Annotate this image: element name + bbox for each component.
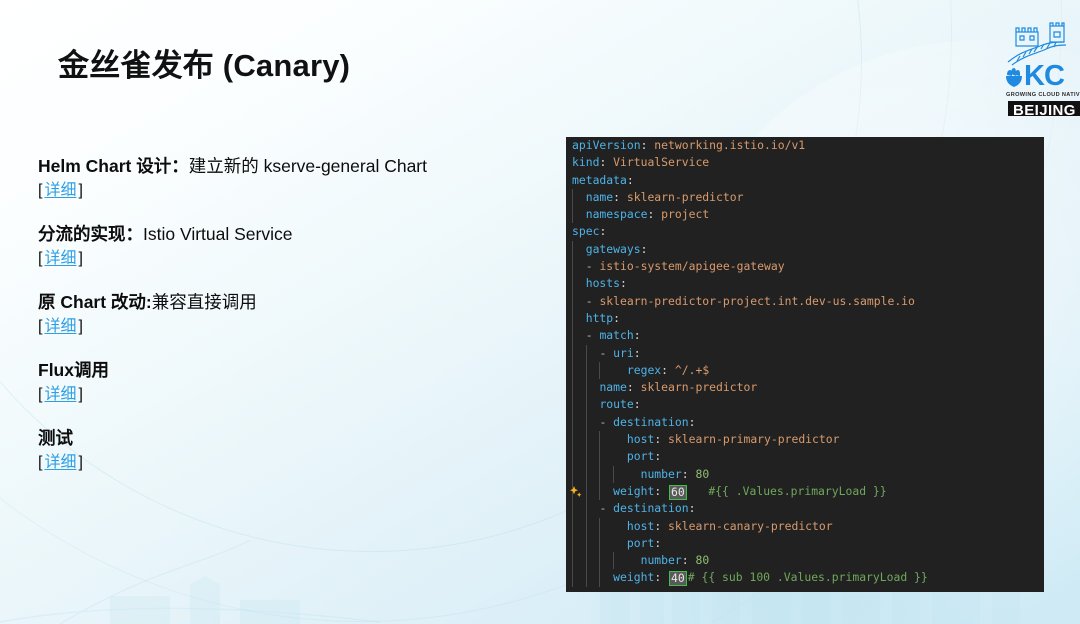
indent-guide (586, 362, 587, 379)
code-line-content: number: 80 (641, 467, 710, 481)
bullet-list: Helm Chart 设计：建立新的 kserve-general Chart … (38, 155, 538, 475)
code-value: istio-system/apigee-gateway (599, 259, 784, 273)
bullet-heading-bold: 测试 (38, 428, 73, 448)
code-number: 80 (695, 553, 709, 567)
code-value: sklearn-predictor (641, 380, 758, 394)
code-line[interactable]: port: (566, 448, 1044, 465)
code-dash: - (599, 501, 613, 515)
indent-guide (572, 500, 573, 517)
page-title: 金丝雀发布 (Canary) (58, 40, 350, 85)
code-value: networking.istio.io/v1 (654, 138, 805, 152)
indent-guide (572, 414, 573, 431)
logo-kc-mark: KC (1004, 62, 1064, 91)
indent-guide (599, 483, 600, 500)
code-separator: : (613, 311, 620, 325)
code-line[interactable]: weight: 60 #{{ .Values.primaryLoad }} (566, 483, 1044, 500)
code-line-content: http: (586, 311, 620, 325)
code-separator: : (682, 467, 696, 481)
code-key: host (627, 519, 654, 533)
indent-guide (586, 396, 587, 413)
logo-brand-text: KC (1024, 62, 1064, 91)
code-comment: # {{ sub 100 .Values.primaryLoad }} (688, 570, 928, 584)
bracket-close: ] (78, 182, 82, 199)
indent-guide (572, 310, 573, 327)
code-separator: : (599, 155, 613, 169)
code-line[interactable]: kind: VirtualService (566, 154, 1044, 171)
code-line[interactable]: namespace: project (566, 206, 1044, 223)
code-line[interactable]: - destination: (566, 414, 1044, 431)
code-separator: : (689, 501, 696, 515)
bullet-detail-row: [详细] (38, 179, 538, 203)
code-key: match (599, 328, 633, 342)
code-dash: - (586, 259, 600, 273)
indent-guide (586, 448, 587, 465)
code-line[interactable]: weight: 40# {{ sub 100 .Values.primaryLo… (566, 569, 1044, 586)
code-comment: #{{ .Values.primaryLoad }} (708, 484, 886, 498)
detail-link[interactable]: 详细 (42, 454, 78, 471)
bullet-item: 原 Chart 改动:兼容直接调用 [详细] (38, 291, 538, 339)
code-key: gateways (586, 242, 641, 256)
detail-link[interactable]: 详细 (42, 182, 78, 199)
code-line-content: weight: 40# {{ sub 100 .Values.primaryLo… (613, 570, 928, 584)
code-key: kind (572, 155, 599, 169)
code-dash: - (586, 328, 600, 342)
code-line-content: name: sklearn-predictor (586, 190, 744, 204)
code-line-content: - istio-system/apigee-gateway (586, 259, 785, 273)
bullet-heading-bold: 分流的实现： (38, 224, 143, 244)
code-separator: : (599, 224, 606, 238)
code-separator: : (641, 138, 655, 152)
code-line[interactable]: - istio-system/apigee-gateway (566, 258, 1044, 275)
indent-guide (572, 275, 573, 292)
indent-guide (572, 431, 573, 448)
code-editor-panel[interactable]: apiVersion: networking.istio.io/v1kind: … (566, 137, 1044, 592)
code-line-content: gateways: (586, 242, 648, 256)
code-line[interactable]: - destination: (566, 500, 1044, 517)
code-key: destination (613, 501, 688, 515)
code-line[interactable]: - uri: (566, 345, 1044, 362)
indent-guide (572, 241, 573, 258)
code-value: project (661, 207, 709, 221)
code-line-content: - destination: (599, 415, 695, 429)
code-key: weight (613, 570, 654, 584)
code-key: hosts (586, 276, 620, 290)
code-key: name (586, 190, 613, 204)
code-key: apiVersion (572, 138, 641, 152)
code-separator: : (647, 207, 661, 221)
code-key: regex (627, 363, 661, 377)
detail-link[interactable]: 详细 (42, 250, 78, 267)
indent-guide (586, 431, 587, 448)
code-separator: : (689, 415, 696, 429)
code-key: name (599, 380, 626, 394)
weight-value-highlight[interactable]: 40 (669, 571, 687, 586)
indent-guide (572, 362, 573, 379)
bullet-item: Helm Chart 设计：建立新的 kserve-general Chart … (38, 155, 538, 203)
bullet-heading-bold: 原 Chart 改动: (38, 292, 152, 312)
indent-guide (572, 396, 573, 413)
bullet-item: 测试 [详细] (38, 427, 538, 475)
bullet-heading: 原 Chart 改动:兼容直接调用 (38, 291, 538, 314)
indent-guide (586, 379, 587, 396)
indent-guide (586, 345, 587, 362)
code-line-content: - sklearn-predictor-project.int.dev-us.s… (586, 294, 915, 308)
bracket-close: ] (78, 386, 82, 403)
indent-guide (572, 327, 573, 344)
code-key: port (627, 536, 654, 550)
code-separator: : (634, 397, 641, 411)
bullet-heading-bold: Helm Chart 设计： (38, 156, 189, 176)
indent-guide (572, 206, 573, 223)
code-separator: : (682, 553, 696, 567)
bracket-close: ] (78, 454, 82, 471)
code-value: ^/.+$ (675, 363, 709, 377)
code-key: metadata (572, 173, 627, 187)
code-line-content: metadata: (572, 173, 634, 187)
code-line[interactable]: route: (566, 396, 1044, 413)
code-key: number (641, 467, 682, 481)
code-dash: - (599, 346, 613, 360)
logo-tagline: GROWING CLOUD NATIVE (1006, 92, 1080, 98)
code-value: VirtualService (613, 155, 709, 169)
bullet-detail-row: [详细] (38, 247, 538, 271)
slide-canvas: 金丝雀发布 (Canary) Helm Chart 设计：建立新的 kserve… (0, 0, 1080, 624)
code-line[interactable]: - sklearn-predictor-project.int.dev-us.s… (566, 293, 1044, 310)
code-separator: : (627, 173, 634, 187)
code-line[interactable]: http: (566, 310, 1044, 327)
code-line-content: number: 80 (641, 553, 710, 567)
code-line-content: name: sklearn-predictor (599, 380, 757, 394)
code-line-content: - destination: (599, 501, 695, 515)
indent-guide (586, 500, 587, 517)
code-line[interactable]: port: (566, 535, 1044, 552)
indent-guide (599, 518, 600, 535)
event-logo: KC GROWING CLOUD NATIVE BEIJING (1002, 22, 1080, 116)
indent-guide (613, 466, 614, 483)
code-line-content: spec: (572, 224, 606, 238)
code-separator: : (654, 484, 668, 498)
sparkle-icon[interactable] (569, 485, 583, 499)
bullet-heading: Helm Chart 设计：建立新的 kserve-general Chart (38, 155, 538, 178)
indent-guide (586, 552, 587, 569)
code-separator: : (627, 380, 641, 394)
code-spacer (688, 484, 709, 498)
indent-guide (586, 466, 587, 483)
code-line[interactable]: - match: (566, 327, 1044, 344)
indent-guide (572, 535, 573, 552)
bullet-heading-rest: 建立新的 kserve-general Chart (189, 156, 427, 176)
code-line-content: hosts: (586, 276, 627, 290)
code-line[interactable]: host: sklearn-canary-predictor (566, 518, 1044, 535)
indent-guide (599, 569, 600, 586)
code-line-content: apiVersion: networking.istio.io/v1 (572, 138, 805, 152)
code-separator: : (654, 449, 661, 463)
indent-guide (599, 535, 600, 552)
indent-guide (586, 483, 587, 500)
code-value: sklearn-predictor (627, 190, 744, 204)
code-key: number (641, 553, 682, 567)
code-number: 80 (695, 467, 709, 481)
code-separator: : (620, 276, 627, 290)
code-separator: : (641, 242, 648, 256)
code-separator: : (654, 432, 668, 446)
code-key: port (627, 449, 654, 463)
code-separator: : (654, 536, 661, 550)
logo-city-badge: BEIJING (1008, 101, 1080, 116)
detail-link[interactable]: 详细 (42, 386, 78, 403)
bullet-detail-row: [详细] (38, 315, 538, 339)
code-key: weight (613, 484, 654, 498)
code-line[interactable]: name: sklearn-predictor (566, 379, 1044, 396)
code-line-content: regex: ^/.+$ (627, 363, 709, 377)
code-line[interactable]: gateways: (566, 241, 1044, 258)
code-key: http (586, 311, 613, 325)
indent-guide (572, 189, 573, 206)
code-key: destination (613, 415, 688, 429)
bullet-heading: 测试 (38, 427, 538, 450)
code-line-content: weight: 60 #{{ .Values.primaryLoad }} (613, 484, 886, 498)
code-line[interactable]: number: 80 (566, 552, 1044, 569)
bullet-heading: 分流的实现：Istio Virtual Service (38, 223, 538, 246)
detail-link[interactable]: 详细 (42, 318, 78, 335)
code-key: namespace (586, 207, 648, 221)
code-separator: : (661, 363, 675, 377)
code-line[interactable]: metadata: (566, 172, 1044, 189)
code-line-content: port: (627, 449, 661, 463)
code-lines: apiVersion: networking.istio.io/v1kind: … (566, 137, 1044, 587)
bullet-detail-row: [详细] (38, 451, 538, 475)
code-key: route (599, 397, 633, 411)
code-line-content: - uri: (599, 346, 640, 360)
indent-guide (572, 569, 573, 586)
code-separator: : (654, 570, 668, 584)
code-separator: : (634, 328, 641, 342)
code-dash: - (586, 294, 600, 308)
indent-guide (613, 552, 614, 569)
indent-guide (572, 379, 573, 396)
code-key: spec (572, 224, 599, 238)
code-line[interactable]: number: 80 (566, 466, 1044, 483)
code-line-content: namespace: project (586, 207, 709, 221)
indent-guide (599, 466, 600, 483)
code-line-content: kind: VirtualService (572, 155, 709, 169)
code-line[interactable]: hosts: (566, 275, 1044, 292)
code-line-content: host: sklearn-primary-predictor (627, 432, 840, 446)
indent-guide (572, 518, 573, 535)
indent-guide (586, 569, 587, 586)
code-line[interactable]: spec: (566, 223, 1044, 240)
bullet-heading-bold: Flux调用 (38, 360, 109, 380)
indent-guide (586, 414, 587, 431)
indent-guide (586, 535, 587, 552)
code-value: sklearn-predictor-project.int.dev-us.sam… (599, 294, 914, 308)
bracket-close: ] (78, 318, 82, 335)
code-line-content: route: (599, 397, 640, 411)
code-line-content: host: sklearn-canary-predictor (627, 519, 833, 533)
bullet-heading: Flux调用 (38, 359, 538, 382)
bullet-heading-rest: 兼容直接调用 (152, 292, 257, 312)
code-separator: : (654, 519, 668, 533)
code-line[interactable]: apiVersion: networking.istio.io/v1 (566, 137, 1044, 154)
hands-icon (1004, 66, 1024, 88)
indent-guide (572, 258, 573, 275)
code-line-content: port: (627, 536, 661, 550)
indent-guide (586, 518, 587, 535)
indent-guide (572, 345, 573, 362)
code-key: host (627, 432, 654, 446)
bullet-item: Flux调用 [详细] (38, 359, 538, 407)
indent-guide (599, 448, 600, 465)
bullet-detail-row: [详细] (38, 383, 538, 407)
indent-guide (599, 552, 600, 569)
code-separator: : (634, 346, 641, 360)
code-line[interactable]: host: sklearn-primary-predictor (566, 431, 1044, 448)
weight-value-highlight[interactable]: 60 (669, 485, 687, 500)
code-line-content: - match: (586, 328, 641, 342)
code-value: sklearn-canary-predictor (668, 519, 833, 533)
indent-guide (599, 362, 600, 379)
code-value: sklearn-primary-predictor (668, 432, 839, 446)
bullet-item: 分流的实现：Istio Virtual Service [详细] (38, 223, 538, 271)
code-key: uri (613, 346, 634, 360)
code-line[interactable]: regex: ^/.+$ (566, 362, 1044, 379)
indent-guide (572, 466, 573, 483)
indent-guide (572, 448, 573, 465)
code-separator: : (613, 190, 627, 204)
bullet-heading-rest: Istio Virtual Service (143, 224, 292, 244)
indent-guide (599, 431, 600, 448)
code-line[interactable]: name: sklearn-predictor (566, 189, 1044, 206)
indent-guide (572, 293, 573, 310)
bracket-close: ] (78, 250, 82, 267)
code-dash: - (599, 415, 613, 429)
indent-guide (572, 552, 573, 569)
